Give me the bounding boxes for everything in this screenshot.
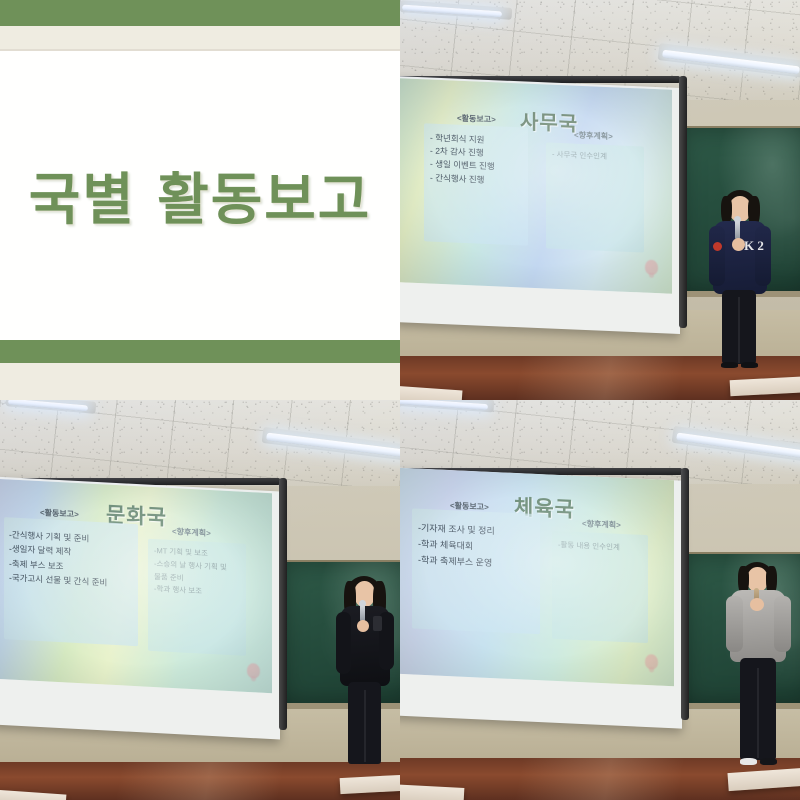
slide-left-bullets: -간식행사 기획 및 준비 -생일자 달력 제작 -축제 부스 보조 -국가고시… — [9, 527, 107, 590]
shoe-right — [741, 362, 758, 368]
panel-munhwaguk: <활동보고> 문화국 <향후계획> -간식행사 기획 및 준비 -생일자 달력 … — [0, 400, 400, 800]
slide-title: 국별 활동보고 — [0, 51, 400, 340]
slide-right-bullets: -MT 기획 및 보조 -스승의 날 행사 기획 및 물품 준비 -학과 행사 … — [154, 545, 227, 600]
legs — [722, 290, 756, 364]
slide-left-tag: <활동보고> — [40, 507, 79, 520]
projected-slide: <활동보고> 문화국 <향후계획> -간식행사 기획 및 준비 -생일자 달력 … — [0, 479, 272, 693]
desk — [340, 774, 400, 794]
left-arm — [336, 612, 351, 674]
slide-left-bullets: -기자재 조사 및 정리 -학과 체육대회 -학과 축제부스 운영 — [418, 521, 495, 572]
slide-top-band — [0, 0, 400, 26]
slide-left-tag: <활동보고> — [457, 113, 496, 126]
classroom-scene: <활동보고> 체육국 <향후계획> -기자재 조사 및 정리 -학과 체육대회 … — [400, 400, 800, 800]
panel-cheyukguk: <활동보고> 체육국 <향후계획> -기자재 조사 및 정리 -학과 체육대회 … — [400, 400, 800, 800]
phone — [373, 616, 382, 631]
screen-roller — [679, 76, 687, 328]
presenter — [332, 576, 398, 768]
shoe-right — [760, 758, 777, 765]
classroom-scene: <활동보고> 문화국 <향후계획> -간식행사 기획 및 준비 -생일자 달력 … — [0, 400, 400, 800]
microphone-head — [359, 600, 366, 607]
slide-right-tag: <향후계획> — [172, 526, 211, 539]
photo-collage: 국별 활동보고 — [0, 0, 800, 800]
slide-bottom-band — [0, 340, 400, 363]
legs — [740, 658, 776, 760]
bullet-item: - 사무국 인수인계 — [552, 149, 607, 163]
slide-right-bullets: - 사무국 인수인계 — [552, 149, 607, 163]
presenter: K 2 — [704, 190, 776, 370]
panel-title-slide: 국별 활동보고 — [0, 0, 400, 400]
microphone-head — [734, 216, 741, 223]
projected-slide: <활동보고> 체육국 <향후계획> -기자재 조사 및 정리 -학과 체육대회 … — [400, 468, 674, 687]
slide-right-tag: <향후계획> — [574, 130, 613, 143]
jacket-logo: K 2 — [744, 238, 764, 254]
screen-roller — [681, 468, 689, 720]
presenter — [722, 562, 794, 768]
mascot-icon — [645, 654, 658, 670]
panel-samuguk: <활동보고> 사무국 <향후계획> - 학년회식 지원 - 2차 감사 진행 -… — [400, 0, 800, 400]
shoe-left — [740, 758, 757, 765]
slide-title: 사무국 — [520, 105, 578, 136]
right-arm — [755, 226, 771, 286]
screen-roller — [279, 478, 287, 730]
slide-body: 국별 활동보고 — [0, 51, 400, 340]
mascot-icon — [247, 663, 260, 679]
classroom-scene: <활동보고> 사무국 <향후계획> - 학년회식 지원 - 2차 감사 진행 -… — [400, 0, 800, 400]
slide-right-tag: <향후계획> — [582, 518, 621, 531]
hands — [357, 620, 369, 632]
shoe-left — [721, 362, 738, 368]
microphone — [735, 220, 740, 240]
bullet-item: - 간식행사 진행 — [430, 171, 495, 187]
hands — [750, 598, 764, 611]
legs — [348, 682, 381, 764]
left-arm — [709, 226, 725, 286]
slide-bottom-cream-strip — [0, 363, 400, 400]
mascot-icon — [645, 260, 658, 276]
right-arm — [774, 596, 791, 652]
left-arm — [726, 596, 743, 652]
slide-left-bullets: - 학년회식 지원 - 2차 감사 진행 - 생일 이벤트 진행 - 간식행사 … — [430, 132, 495, 187]
hands — [732, 238, 745, 251]
projected-slide: <활동보고> 사무국 <향후계획> - 학년회식 지원 - 2차 감사 진행 -… — [400, 78, 672, 293]
jacket-patch — [713, 242, 722, 251]
slide-top-cream-strip — [0, 26, 400, 51]
